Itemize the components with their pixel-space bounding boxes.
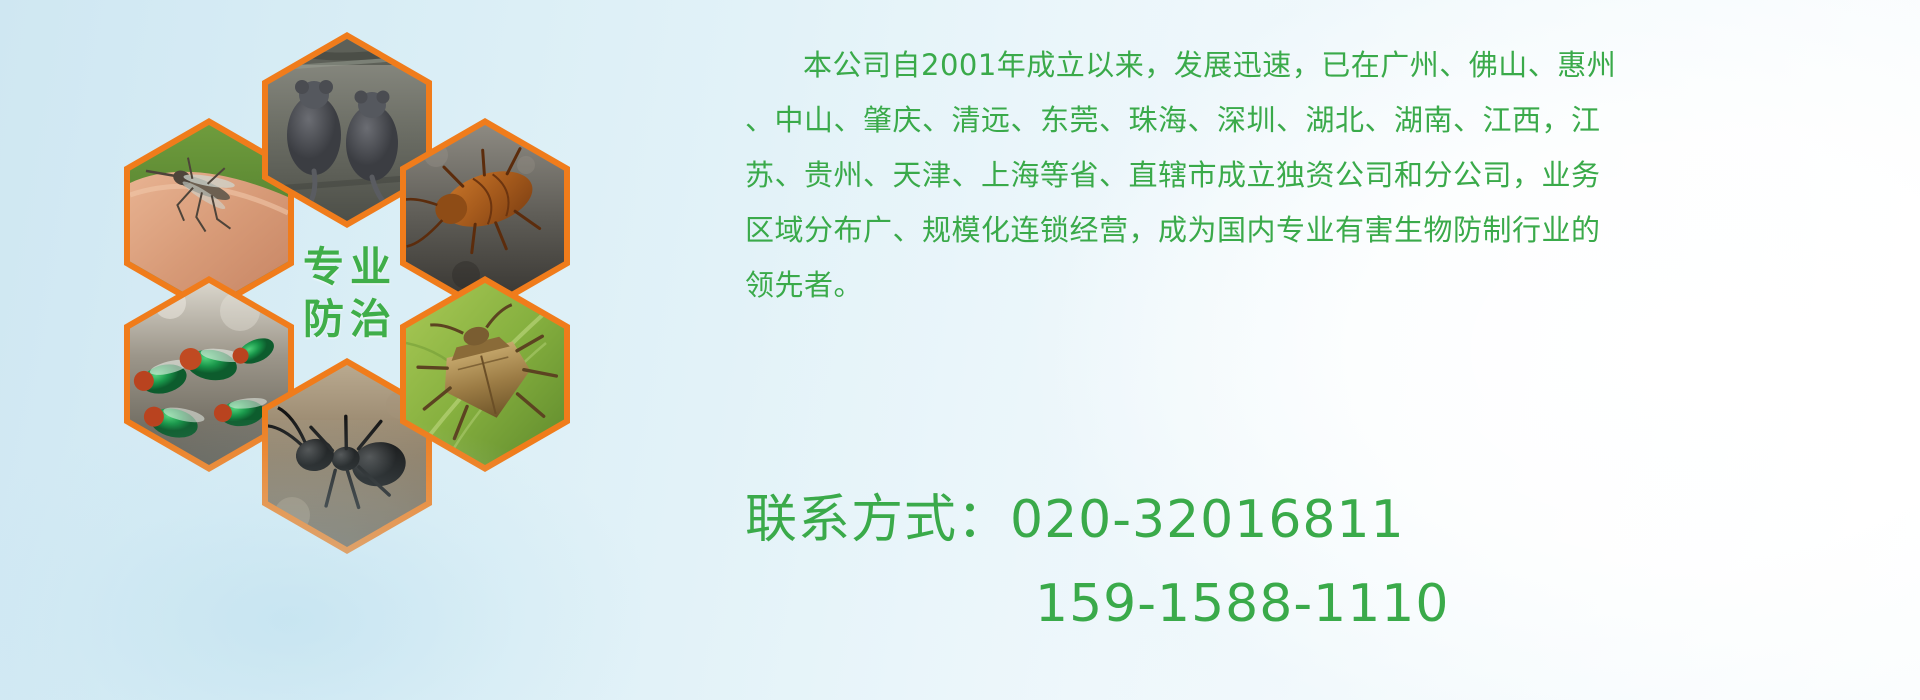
intro-line-4: 区域分布广、规模化连锁经营，成为国内专业有害生物防制行业的 bbox=[745, 203, 1870, 258]
center-label-line-1: 专业 bbox=[297, 245, 397, 289]
contact-block: 联系方式：020-32016811 159-1588-1110 bbox=[745, 478, 1870, 646]
banner-content: 本公司自2001年成立以来，发展迅速，已在广州、佛山、惠州 、中山、肇庆、清远、… bbox=[745, 0, 1875, 700]
contact-phone-mobile[interactable]: 159-1588-1110 bbox=[745, 562, 1870, 646]
contact-phone-landline[interactable]: 联系方式：020-32016811 bbox=[745, 478, 1870, 562]
hex-photo-collage: 专业 防治 bbox=[90, 0, 590, 560]
intro-line-1: 本公司自2001年成立以来，发展迅速，已在广州、佛山、惠州 bbox=[745, 38, 1870, 93]
company-intro-paragraph: 本公司自2001年成立以来，发展迅速，已在广州、佛山、惠州 、中山、肇庆、清远、… bbox=[745, 38, 1870, 313]
intro-line-2: 、中山、肇庆、清远、东莞、珠海、深圳、湖北、湖南、江西，江 bbox=[745, 93, 1870, 148]
intro-line-3: 苏、贵州、天津、上海等省、直辖市成立独资公司和分公司，业务 bbox=[745, 148, 1870, 203]
stinkbug-photo bbox=[406, 283, 564, 465]
promo-banner: 专业 防治 本公司自2001年成立以来，发展迅速，已在广州、佛山、惠州 、中山、… bbox=[0, 0, 1920, 700]
center-label-line-2: 防治 bbox=[297, 297, 397, 341]
intro-line-5: 领先者。 bbox=[745, 258, 1870, 313]
